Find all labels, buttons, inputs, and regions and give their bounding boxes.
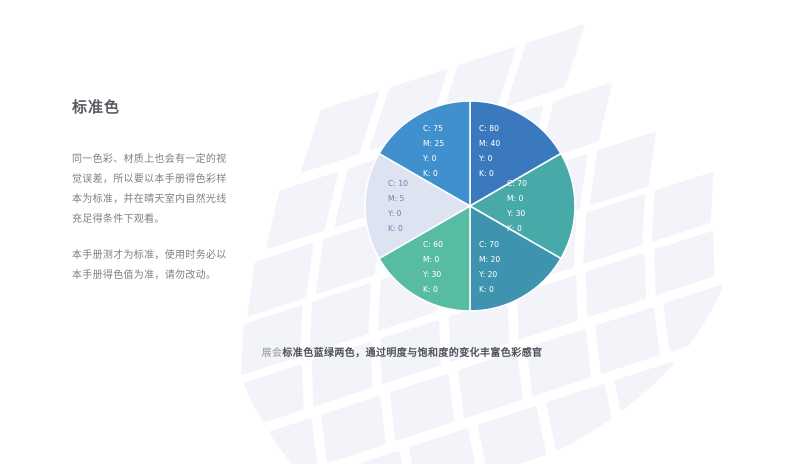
label-m: M: 25 xyxy=(423,139,444,148)
label-k: K: 0 xyxy=(507,224,522,233)
label-c: C: 80 xyxy=(479,124,499,133)
label-k: K: 0 xyxy=(423,285,438,294)
label-y: Y: 30 xyxy=(422,270,441,279)
label-y: Y: 20 xyxy=(478,270,497,279)
chart-caption: 展会标准色蓝绿两色，通过明度与饱和度的变化丰富色彩感官 xyxy=(0,344,804,359)
label-y: Y: 30 xyxy=(506,209,525,218)
label-m: M: 0 xyxy=(423,255,440,264)
label-k: K: 0 xyxy=(388,224,403,233)
slide-canvas: 标准色 同一色彩、材质上也会有一定的视觉误差，所以要以本手册得色彩样本为标准，并… xyxy=(0,0,804,464)
label-k: K: 0 xyxy=(479,169,494,178)
label-m: M: 5 xyxy=(388,194,405,203)
label-y: Y: 0 xyxy=(387,209,402,218)
text-column: 标准色 同一色彩、材质上也会有一定的视觉误差，所以要以本手册得色彩样本为标准，并… xyxy=(72,98,232,286)
label-c: C: 10 xyxy=(388,179,408,188)
label-y: Y: 0 xyxy=(478,154,493,163)
label-c: C: 60 xyxy=(423,240,443,249)
label-m: M: 20 xyxy=(479,255,500,264)
caption-main: 标准色蓝绿两色，通过明度与饱和度的变化丰富色彩感官 xyxy=(282,348,542,359)
caption-lead: 展会 xyxy=(262,348,283,359)
page-title: 标准色 xyxy=(72,98,232,116)
label-m: M: 0 xyxy=(507,194,524,203)
label-c: C: 70 xyxy=(479,240,499,249)
pie-slices xyxy=(365,101,575,311)
standard-color-pie-chart: C: 75 M: 25 Y: 0 K: 0 C: 80 M: 40 Y: 0 K… xyxy=(362,98,578,314)
body-paragraph-1: 同一色彩、材质上也会有一定的视觉误差，所以要以本手册得色彩样本为标准，并在晴天室… xyxy=(72,150,232,230)
label-k: K: 0 xyxy=(479,285,494,294)
label-k: K: 0 xyxy=(423,169,438,178)
label-m: M: 40 xyxy=(479,139,500,148)
label-c: C: 75 xyxy=(423,124,443,133)
label-c: C: 70 xyxy=(507,179,527,188)
body-paragraph-2: 本手册测才为标准，使用时务必以本手册得色值为准，请勿改动。 xyxy=(72,246,232,286)
label-y: Y: 0 xyxy=(422,154,437,163)
